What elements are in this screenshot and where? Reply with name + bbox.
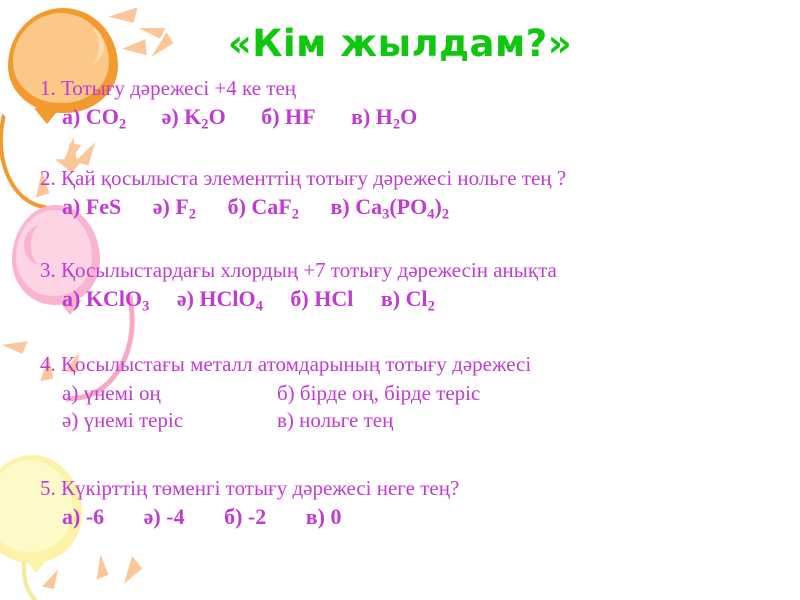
option-a[interactable]: а) KClO3: [62, 286, 149, 315]
question-block-2: 2. Қай қосылыста элементтің тотығу дәреж…: [0, 166, 800, 223]
option-b[interactable]: б) HCl: [290, 286, 353, 312]
option-v[interactable]: в) 0: [306, 504, 342, 530]
option-v[interactable]: в) нольге тең: [277, 408, 393, 433]
question-options-2: а) FeS ә) F2 б) CaF2 в) Ca3(PO4)2: [0, 194, 800, 223]
slide-canvas: «Кім жылдам?» 1. Тотығу дәрежесі +4 ке т…: [0, 0, 800, 600]
option-ae[interactable]: ә) K2O: [162, 104, 226, 133]
option-b[interactable]: б) CaF2: [228, 194, 299, 223]
option-b[interactable]: б) -2: [224, 504, 266, 530]
option-v[interactable]: в) H2O: [351, 104, 417, 133]
option-row-2: ә) үнемі теріс в) нольге тең: [62, 408, 800, 435]
option-ae[interactable]: ә) үнемі теріс: [62, 408, 183, 433]
question-text-5: 5. Күкірттің төменгі тотығу дәрежесі нег…: [0, 476, 800, 501]
option-ae[interactable]: ә) F2: [153, 194, 196, 223]
question-text-1: 1. Тотығу дәрежесі +4 ке тең: [0, 76, 800, 101]
slide-content: «Кім жылдам?» 1. Тотығу дәрежесі +4 ке т…: [0, 0, 800, 600]
question-options-1: а) CO2 ә) K2O б) HF в) H2O: [0, 104, 800, 133]
option-a[interactable]: а) үнемі оң: [62, 381, 161, 406]
question-options-4: а) үнемі оң б) бірде оң, бірде теріс ә) …: [0, 381, 800, 435]
option-a[interactable]: а) FeS: [62, 194, 121, 220]
question-options-3: а) KClO3 ә) HClO4 б) HCl в) Cl2: [0, 286, 800, 315]
option-b[interactable]: б) HF: [261, 104, 315, 130]
page-title: «Кім жылдам?»: [0, 22, 800, 65]
question-text-2: 2. Қай қосылыста элементтің тотығу дәреж…: [0, 166, 800, 191]
option-row-1: а) үнемі оң б) бірде оң, бірде теріс: [62, 381, 800, 408]
question-block-4: 4. Қосылыстағы металл атомдарының тотығу…: [0, 352, 800, 435]
option-v[interactable]: в) Ca3(PO4)2: [330, 194, 449, 223]
option-v[interactable]: в) Cl2: [381, 286, 435, 315]
question-options-5: а) -6 ә) -4 б) -2 в) 0: [0, 504, 800, 530]
option-ae[interactable]: ә) -4: [144, 504, 185, 530]
question-block-5: 5. Күкірттің төменгі тотығу дәрежесі нег…: [0, 476, 800, 530]
question-text-4: 4. Қосылыстағы металл атомдарының тотығу…: [0, 352, 800, 377]
option-ae[interactable]: ә) HClO4: [177, 286, 263, 315]
question-block-3: 3. Қосылыстардағы хлордың +7 тотығу дәре…: [0, 258, 800, 315]
question-text-3: 3. Қосылыстардағы хлордың +7 тотығу дәре…: [0, 258, 800, 283]
option-a[interactable]: а) -6: [62, 504, 104, 530]
question-block-1: 1. Тотығу дәрежесі +4 ке тең а) CO2 ә) K…: [0, 76, 800, 133]
option-b[interactable]: б) бірде оң, бірде теріс: [277, 381, 480, 406]
option-a[interactable]: а) CO2: [62, 104, 126, 133]
